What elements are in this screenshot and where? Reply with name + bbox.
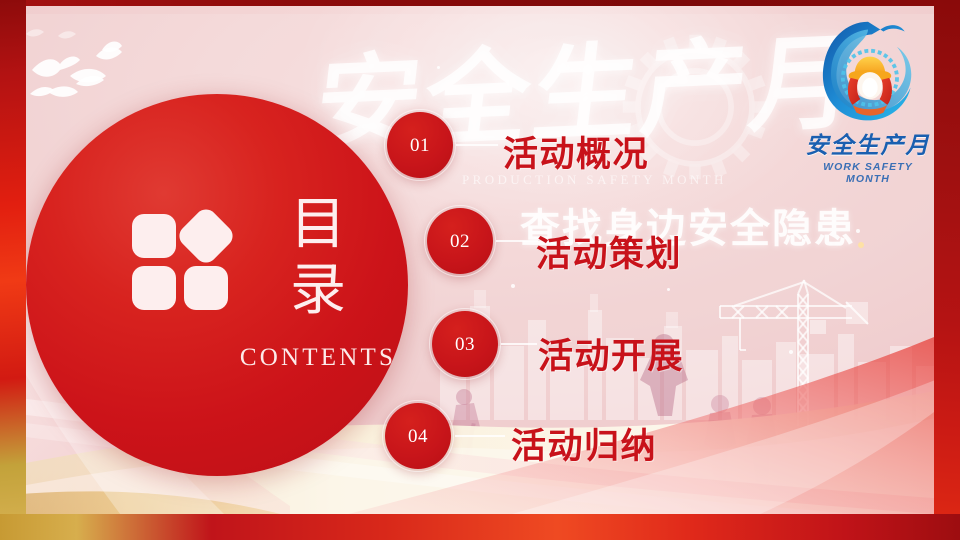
four-tiles-icon [132,214,232,314]
sparkle [437,66,440,69]
toc-number-04: 04 [408,427,428,446]
sparkle [858,242,864,248]
toc-connector-02 [496,240,538,242]
frame-top-border [0,0,960,6]
frame-left-border [0,0,26,540]
frame-right-border [934,0,960,540]
safety-month-logo: 安全生产月 WORK SAFETY MONTH [800,16,936,185]
tile-bottom-right [184,266,228,310]
contents-circle: 目录 CONTENTS [26,94,408,476]
toc-number-01: 01 [410,136,430,155]
toc-label-04[interactable]: 活动归纳 [511,418,657,469]
logo-name-en: WORK SAFETY MONTH [800,161,936,185]
sparkle [856,229,860,233]
toc-bullet-02[interactable]: 02 [427,208,493,274]
slide-canvas: 安全生产月 PRODUCTION SAFETY MONTH 查找身边安全隐患 [0,0,960,540]
sparkle [789,350,793,354]
sparkle [667,288,670,291]
construction-crane-silhouette [718,276,878,426]
toc-label-02[interactable]: 活动策划 [536,226,682,277]
frame-bottom-border [0,514,960,540]
contents-title-en: CONTENTS [178,344,458,372]
tile-bottom-left [132,266,176,310]
toc-label-03[interactable]: 活动开展 [538,328,684,379]
toc-connector-01 [456,144,498,146]
sparkle [511,284,515,288]
toc-bullet-04[interactable]: 04 [385,403,451,469]
toc-connector-03 [501,343,537,345]
tile-top-right-diamond [175,205,237,267]
contents-title-cn: 目录 [264,192,374,324]
logo-name-cn: 安全生产月 [800,126,936,160]
worker-silhouettes [700,392,800,492]
toc-bullet-01[interactable]: 01 [387,112,453,178]
toc-number-02: 02 [450,232,470,251]
safety-month-six-helmet-logo-icon [800,16,936,132]
tile-top-left [132,214,176,258]
city-skyline-silhouette [430,250,950,420]
toc-bullet-03[interactable]: 03 [432,311,498,377]
toc-number-03: 03 [455,335,475,354]
toc-connector-04 [455,435,505,437]
toc-label-01[interactable]: 活动概况 [503,126,649,177]
